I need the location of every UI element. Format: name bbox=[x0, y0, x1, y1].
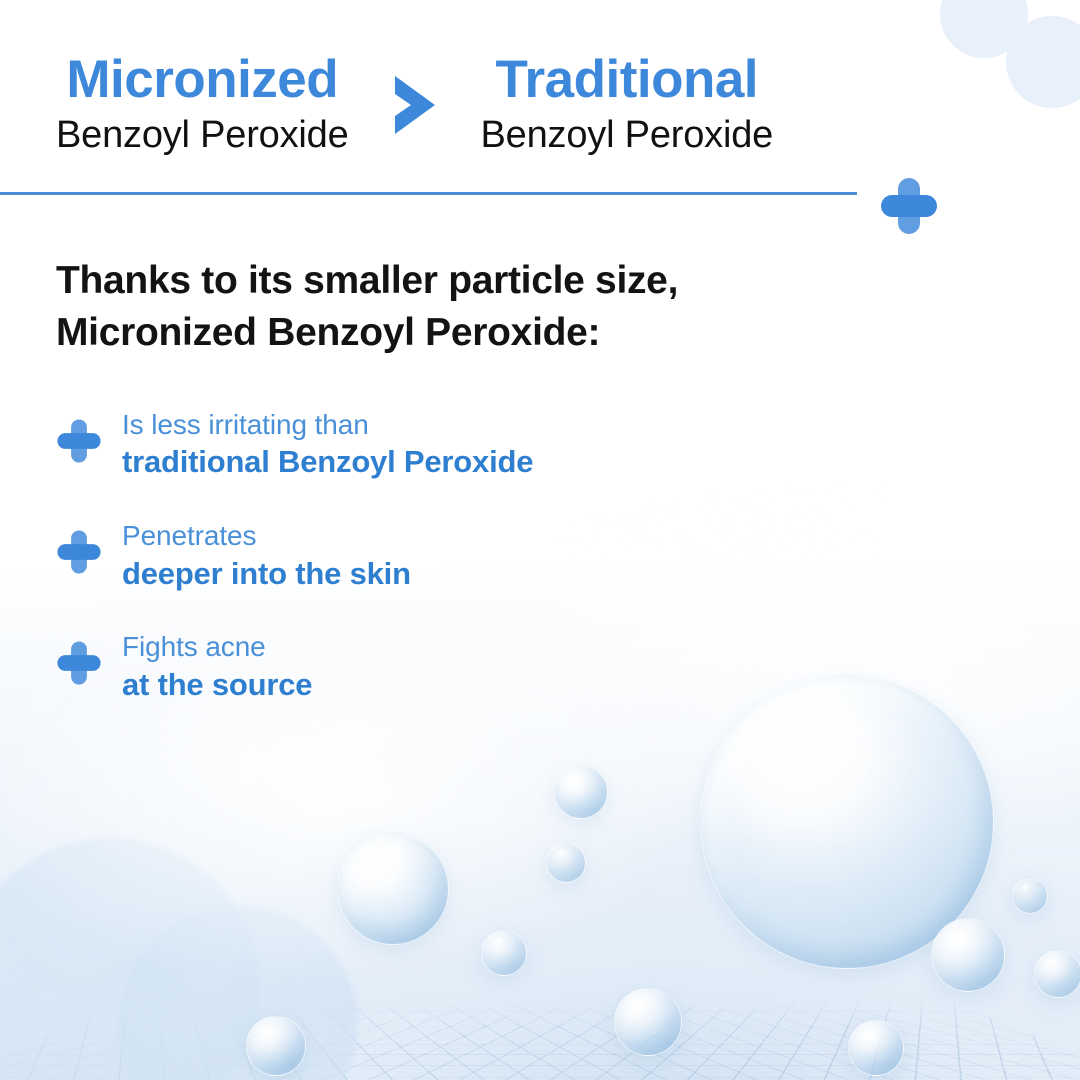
product-micronized-name: Benzoyl Peroxide bbox=[56, 112, 349, 160]
greater-than-chevron-icon bbox=[387, 72, 443, 138]
benefit-lead: Penetrates bbox=[122, 519, 411, 553]
lede-line-2: Micronized Benzoyl Peroxide: bbox=[56, 307, 816, 359]
product-traditional-qualifier: Traditional bbox=[496, 52, 758, 108]
benefit-item: Penetrates deeper into the skin bbox=[56, 519, 1080, 592]
background-bubble bbox=[931, 918, 1005, 992]
background-bubble-large bbox=[700, 675, 994, 969]
benefit-lead: Fights acne bbox=[122, 630, 312, 664]
poster-canvas: Micronized Benzoyl Peroxide Traditional … bbox=[0, 0, 1080, 1080]
background-bubble bbox=[246, 1016, 306, 1076]
background-bubble bbox=[554, 765, 608, 819]
plus-icon bbox=[56, 418, 102, 464]
poster-header: Micronized Benzoyl Peroxide Traditional … bbox=[0, 0, 1080, 222]
benefit-text: Fights acne at the source bbox=[122, 630, 312, 703]
divider-plus-accent bbox=[877, 174, 941, 243]
plus-icon bbox=[56, 640, 102, 686]
header-divider-row bbox=[0, 178, 1080, 222]
benefit-emphasis: at the source bbox=[122, 666, 312, 704]
background-bubble-ghost bbox=[0, 838, 260, 1080]
benefit-item: Is less irritating than traditional Benz… bbox=[56, 408, 1080, 481]
benefit-lead: Is less irritating than bbox=[122, 408, 533, 442]
hexagonal-mesh-floor bbox=[0, 997, 1080, 1080]
benefit-bullet-icon-wrap bbox=[56, 529, 102, 580]
benefit-item: Fights acne at the source bbox=[56, 630, 1080, 703]
comparator bbox=[387, 72, 443, 138]
background-bubble bbox=[337, 833, 449, 945]
benefits-list: Is less irritating than traditional Benz… bbox=[56, 408, 1080, 704]
benefit-emphasis: traditional Benzoyl Peroxide bbox=[122, 443, 533, 481]
background-bubble bbox=[1034, 950, 1080, 998]
background-bubble bbox=[1012, 878, 1048, 914]
lede-line-1: Thanks to its smaller particle size, bbox=[56, 255, 816, 307]
plus-icon bbox=[56, 529, 102, 575]
background-bubble bbox=[546, 843, 586, 883]
benefit-text: Penetrates deeper into the skin bbox=[122, 519, 411, 592]
poster-body: Thanks to its smaller particle size, Mic… bbox=[0, 255, 1080, 704]
background-bubble bbox=[481, 930, 527, 976]
product-micronized: Micronized Benzoyl Peroxide bbox=[56, 52, 349, 160]
benefit-emphasis: deeper into the skin bbox=[122, 555, 411, 593]
product-traditional: Traditional Benzoyl Peroxide bbox=[481, 52, 774, 160]
header-divider-line bbox=[0, 192, 857, 195]
background-bubble-ghost bbox=[118, 905, 358, 1080]
product-comparison-row: Micronized Benzoyl Peroxide Traditional … bbox=[0, 52, 1080, 160]
background-bubble bbox=[614, 988, 682, 1056]
lede-text: Thanks to its smaller particle size, Mic… bbox=[56, 255, 816, 360]
product-traditional-name: Benzoyl Peroxide bbox=[481, 112, 774, 160]
product-micronized-qualifier: Micronized bbox=[66, 52, 338, 108]
benefit-text: Is less irritating than traditional Benz… bbox=[122, 408, 533, 481]
benefit-bullet-icon-wrap bbox=[56, 640, 102, 691]
background-bubble bbox=[848, 1020, 904, 1076]
benefit-bullet-icon-wrap bbox=[56, 418, 102, 469]
plus-icon bbox=[877, 174, 941, 238]
